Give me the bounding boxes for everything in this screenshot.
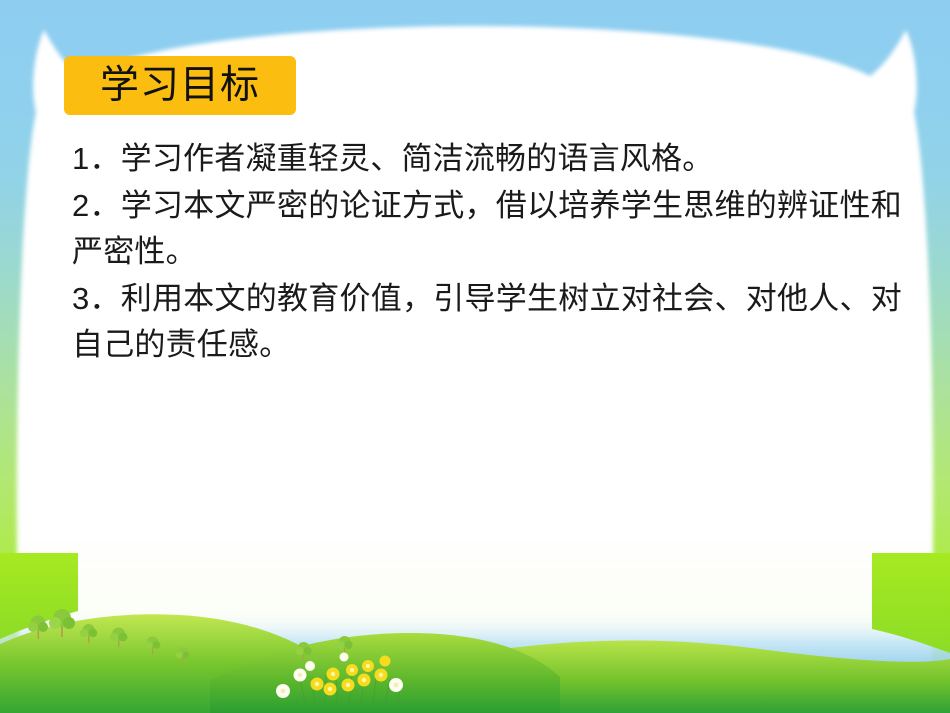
page-title: 学习目标 — [100, 66, 260, 105]
slide-canvas: 学习目标 1．学习作者凝重轻灵、简洁流畅的语言风格。 2．学习本文严密的论证方式… — [0, 0, 950, 713]
list-item-goal-1: 1．学习作者凝重轻灵、简洁流畅的语言风格。 — [72, 136, 902, 182]
learning-goals-list: 1．学习作者凝重轻灵、简洁流畅的语言风格。 2．学习本文严密的论证方式，借以培养… — [72, 136, 902, 369]
page-title-badge: 学习目标 — [64, 56, 296, 115]
list-item-goal-2: 2．学习本文严密的论证方式，借以培养学生思维的辨证性和严密性。 — [72, 183, 902, 275]
list-item-goal-3: 3．利用本文的教育价值，引导学生树立对社会、对他人、对自己的责任感。 — [72, 276, 902, 368]
slide-content: 学习目标 1．学习作者凝重轻灵、简洁流畅的语言风格。 2．学习本文严密的论证方式… — [0, 0, 950, 713]
